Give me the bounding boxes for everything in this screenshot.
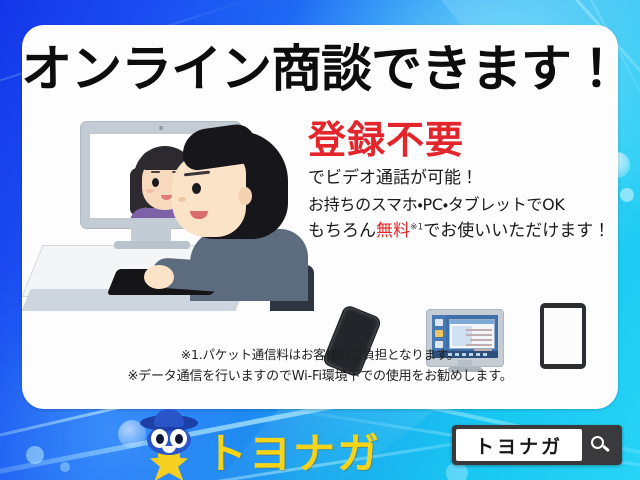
remote-brow-left [151, 171, 160, 173]
mascot-hat-crown [154, 409, 184, 427]
person-eye [192, 183, 201, 194]
search-icon [591, 436, 610, 455]
remote-eye-left [152, 178, 159, 187]
promo-footnote-marker: ※1 [410, 223, 423, 233]
promo-line-3: もちろん無料※1でお使いいただけます！ [308, 218, 608, 246]
person-nose [178, 197, 186, 202]
promo-line-1: でビデオ通話が可能！ [308, 165, 608, 193]
webcam-icon [159, 126, 163, 130]
content-card: オンライン商談できます！ [22, 25, 618, 409]
promo-banner: オンライン商談できます！ [0, 0, 640, 480]
footer-bar: トヨナガ トヨナガ [0, 409, 640, 480]
window-titlebar [450, 320, 494, 324]
search-bar[interactable]: トヨナガ [452, 425, 622, 465]
promo-line-3-prefix: もちろん [308, 221, 376, 241]
person-ear [238, 187, 252, 205]
window-text-row [466, 334, 492, 336]
footnotes: ※1.パケット通信料はお客様のご負担となります。 ※データ通信を行いますのでWi… [22, 345, 618, 387]
promo-text-block: 登録不要 でビデオ通話が可能！ お持ちのスマホ・PC・タブレットでOK もちろん… [308, 121, 608, 246]
person-hand [144, 265, 174, 289]
search-button[interactable] [584, 429, 616, 461]
footnote-1: ※1.パケット通信料はお客様のご負担となります。 [22, 345, 618, 366]
window-text-row [470, 339, 492, 341]
background-bokeh-2 [620, 188, 634, 202]
footnote-2: ※データ通信を行いますのでWi-Fi環境下での使用をお勧めします。 [22, 366, 618, 387]
desktop-file-icon [435, 319, 443, 326]
video-call-illustration [32, 113, 302, 329]
mascot-pupil-left [156, 434, 164, 444]
search-input[interactable]: トヨナガ [456, 429, 582, 461]
desktop-folder-icon [435, 330, 443, 337]
brand-logo-text: トヨナガ [205, 420, 381, 480]
page-title: オンライン商談できます！ [32, 29, 609, 101]
toyonaga-mascot-icon [138, 413, 200, 479]
monitor-base [114, 241, 190, 249]
promo-line-3-suffix: でお使いいただけます！ [423, 221, 610, 241]
promo-line-2: お持ちのスマホ・PC・タブレットでOK [308, 192, 608, 218]
promo-free-label: 無料 [376, 221, 410, 241]
promo-highlight: 登録不要 [308, 121, 608, 161]
mascot-pupil-right [175, 434, 183, 444]
window-text-row [466, 329, 492, 331]
remote-cheek-left [146, 189, 154, 193]
